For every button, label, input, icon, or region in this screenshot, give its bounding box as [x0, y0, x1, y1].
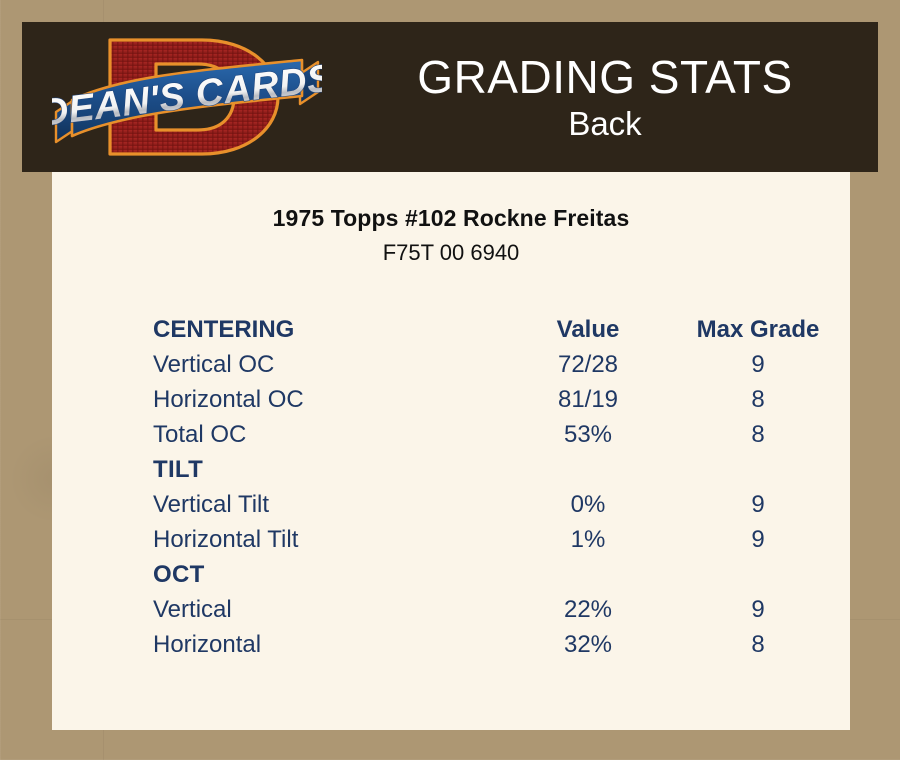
section-spacer [673, 557, 843, 592]
table-row: Vertical 22% 9 [153, 592, 843, 627]
row-max-grade: 8 [673, 417, 843, 452]
logo-wordmark: DEAN'S CARDS [52, 57, 322, 134]
column-header-centering: CENTERING [153, 312, 503, 347]
row-max-grade: 8 [673, 382, 843, 417]
row-label: Horizontal OC [153, 382, 503, 417]
row-label: Vertical OC [153, 347, 503, 382]
row-label: Total OC [153, 417, 503, 452]
row-value: 0% [503, 487, 673, 522]
grading-stats-table: CENTERING Value Max Grade Vertical OC 72… [153, 312, 843, 662]
row-value: 22% [503, 592, 673, 627]
header-bar: DEAN'S CARDS GRADING STATS Back [22, 22, 878, 172]
table-row: Total OC 53% 8 [153, 417, 843, 452]
row-max-grade: 8 [673, 627, 843, 662]
table-row: Horizontal Tilt 1% 9 [153, 522, 843, 557]
row-label: Vertical [153, 592, 503, 627]
table-row: Vertical Tilt 0% 9 [153, 487, 843, 522]
header-title-group: GRADING STATS Back [332, 22, 878, 172]
page-subtitle: Back [568, 104, 641, 144]
card-title: 1975 Topps #102 Rockne Freitas [52, 172, 850, 232]
row-max-grade: 9 [673, 592, 843, 627]
row-value: 81/19 [503, 382, 673, 417]
row-value: 72/28 [503, 347, 673, 382]
row-label: Horizontal [153, 627, 503, 662]
section-spacer [503, 452, 673, 487]
page-title: GRADING STATS [417, 50, 792, 104]
table-row: Vertical OC 72/28 9 [153, 347, 843, 382]
section-label: TILT [153, 452, 503, 487]
section-spacer [673, 452, 843, 487]
column-header-value: Value [503, 312, 673, 347]
stats-table-body: CENTERING Value Max Grade Vertical OC 72… [153, 312, 843, 662]
section-header-oct: OCT [153, 557, 843, 592]
section-label: OCT [153, 557, 503, 592]
svg-text:DEAN'S CARDS: DEAN'S CARDS [52, 57, 322, 134]
table-row: Horizontal OC 81/19 8 [153, 382, 843, 417]
card-serial-number: F75T 00 6940 [52, 232, 850, 266]
deans-cards-logo[interactable]: DEAN'S CARDS [52, 26, 322, 168]
column-header-max-grade: Max Grade [673, 312, 843, 347]
section-header-tilt: TILT [153, 452, 843, 487]
row-label: Horizontal Tilt [153, 522, 503, 557]
row-max-grade: 9 [673, 522, 843, 557]
table-row: Horizontal 32% 8 [153, 627, 843, 662]
content-panel: 1975 Topps #102 Rockne Freitas F75T 00 6… [52, 172, 850, 730]
table-header-row: CENTERING Value Max Grade [153, 312, 843, 347]
row-max-grade: 9 [673, 347, 843, 382]
row-value: 32% [503, 627, 673, 662]
section-spacer [503, 557, 673, 592]
row-max-grade: 9 [673, 487, 843, 522]
row-label: Vertical Tilt [153, 487, 503, 522]
row-value: 53% [503, 417, 673, 452]
row-value: 1% [503, 522, 673, 557]
